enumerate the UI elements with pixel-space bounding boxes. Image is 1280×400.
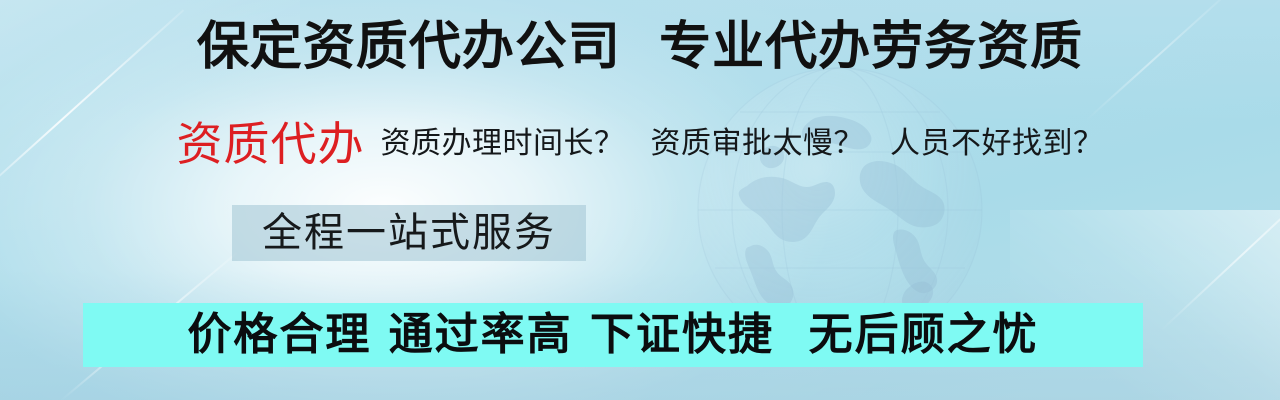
page-title: 保定资质代办公司 专业代办劳务资质 [0, 16, 1280, 78]
service-highlight-band: 全程一站式服务 [232, 205, 586, 261]
question-row: 资质代办 资质办理时间长？ 资质审批太慢？ 人员不好找到？ [0, 116, 1280, 172]
promo-banner: 保定资质代办公司 专业代办劳务资质 资质代办 资质办理时间长？ 资质审批太慢？ … [0, 0, 1280, 400]
question-item-3: 人员不好找到？ [890, 124, 1104, 164]
benefits-label: 价格合理 通过率高 下证快捷 无后顾之忧 [187, 308, 1038, 362]
brand-mark: 资质代办 [177, 118, 365, 170]
question-item-2: 资质审批太慢？ [651, 124, 865, 164]
question-item-1: 资质办理时间长？ [381, 124, 625, 164]
service-highlight-label: 全程一站式服务 [262, 210, 556, 256]
benefits-band: 价格合理 通过率高 下证快捷 无后顾之忧 [83, 303, 1143, 367]
